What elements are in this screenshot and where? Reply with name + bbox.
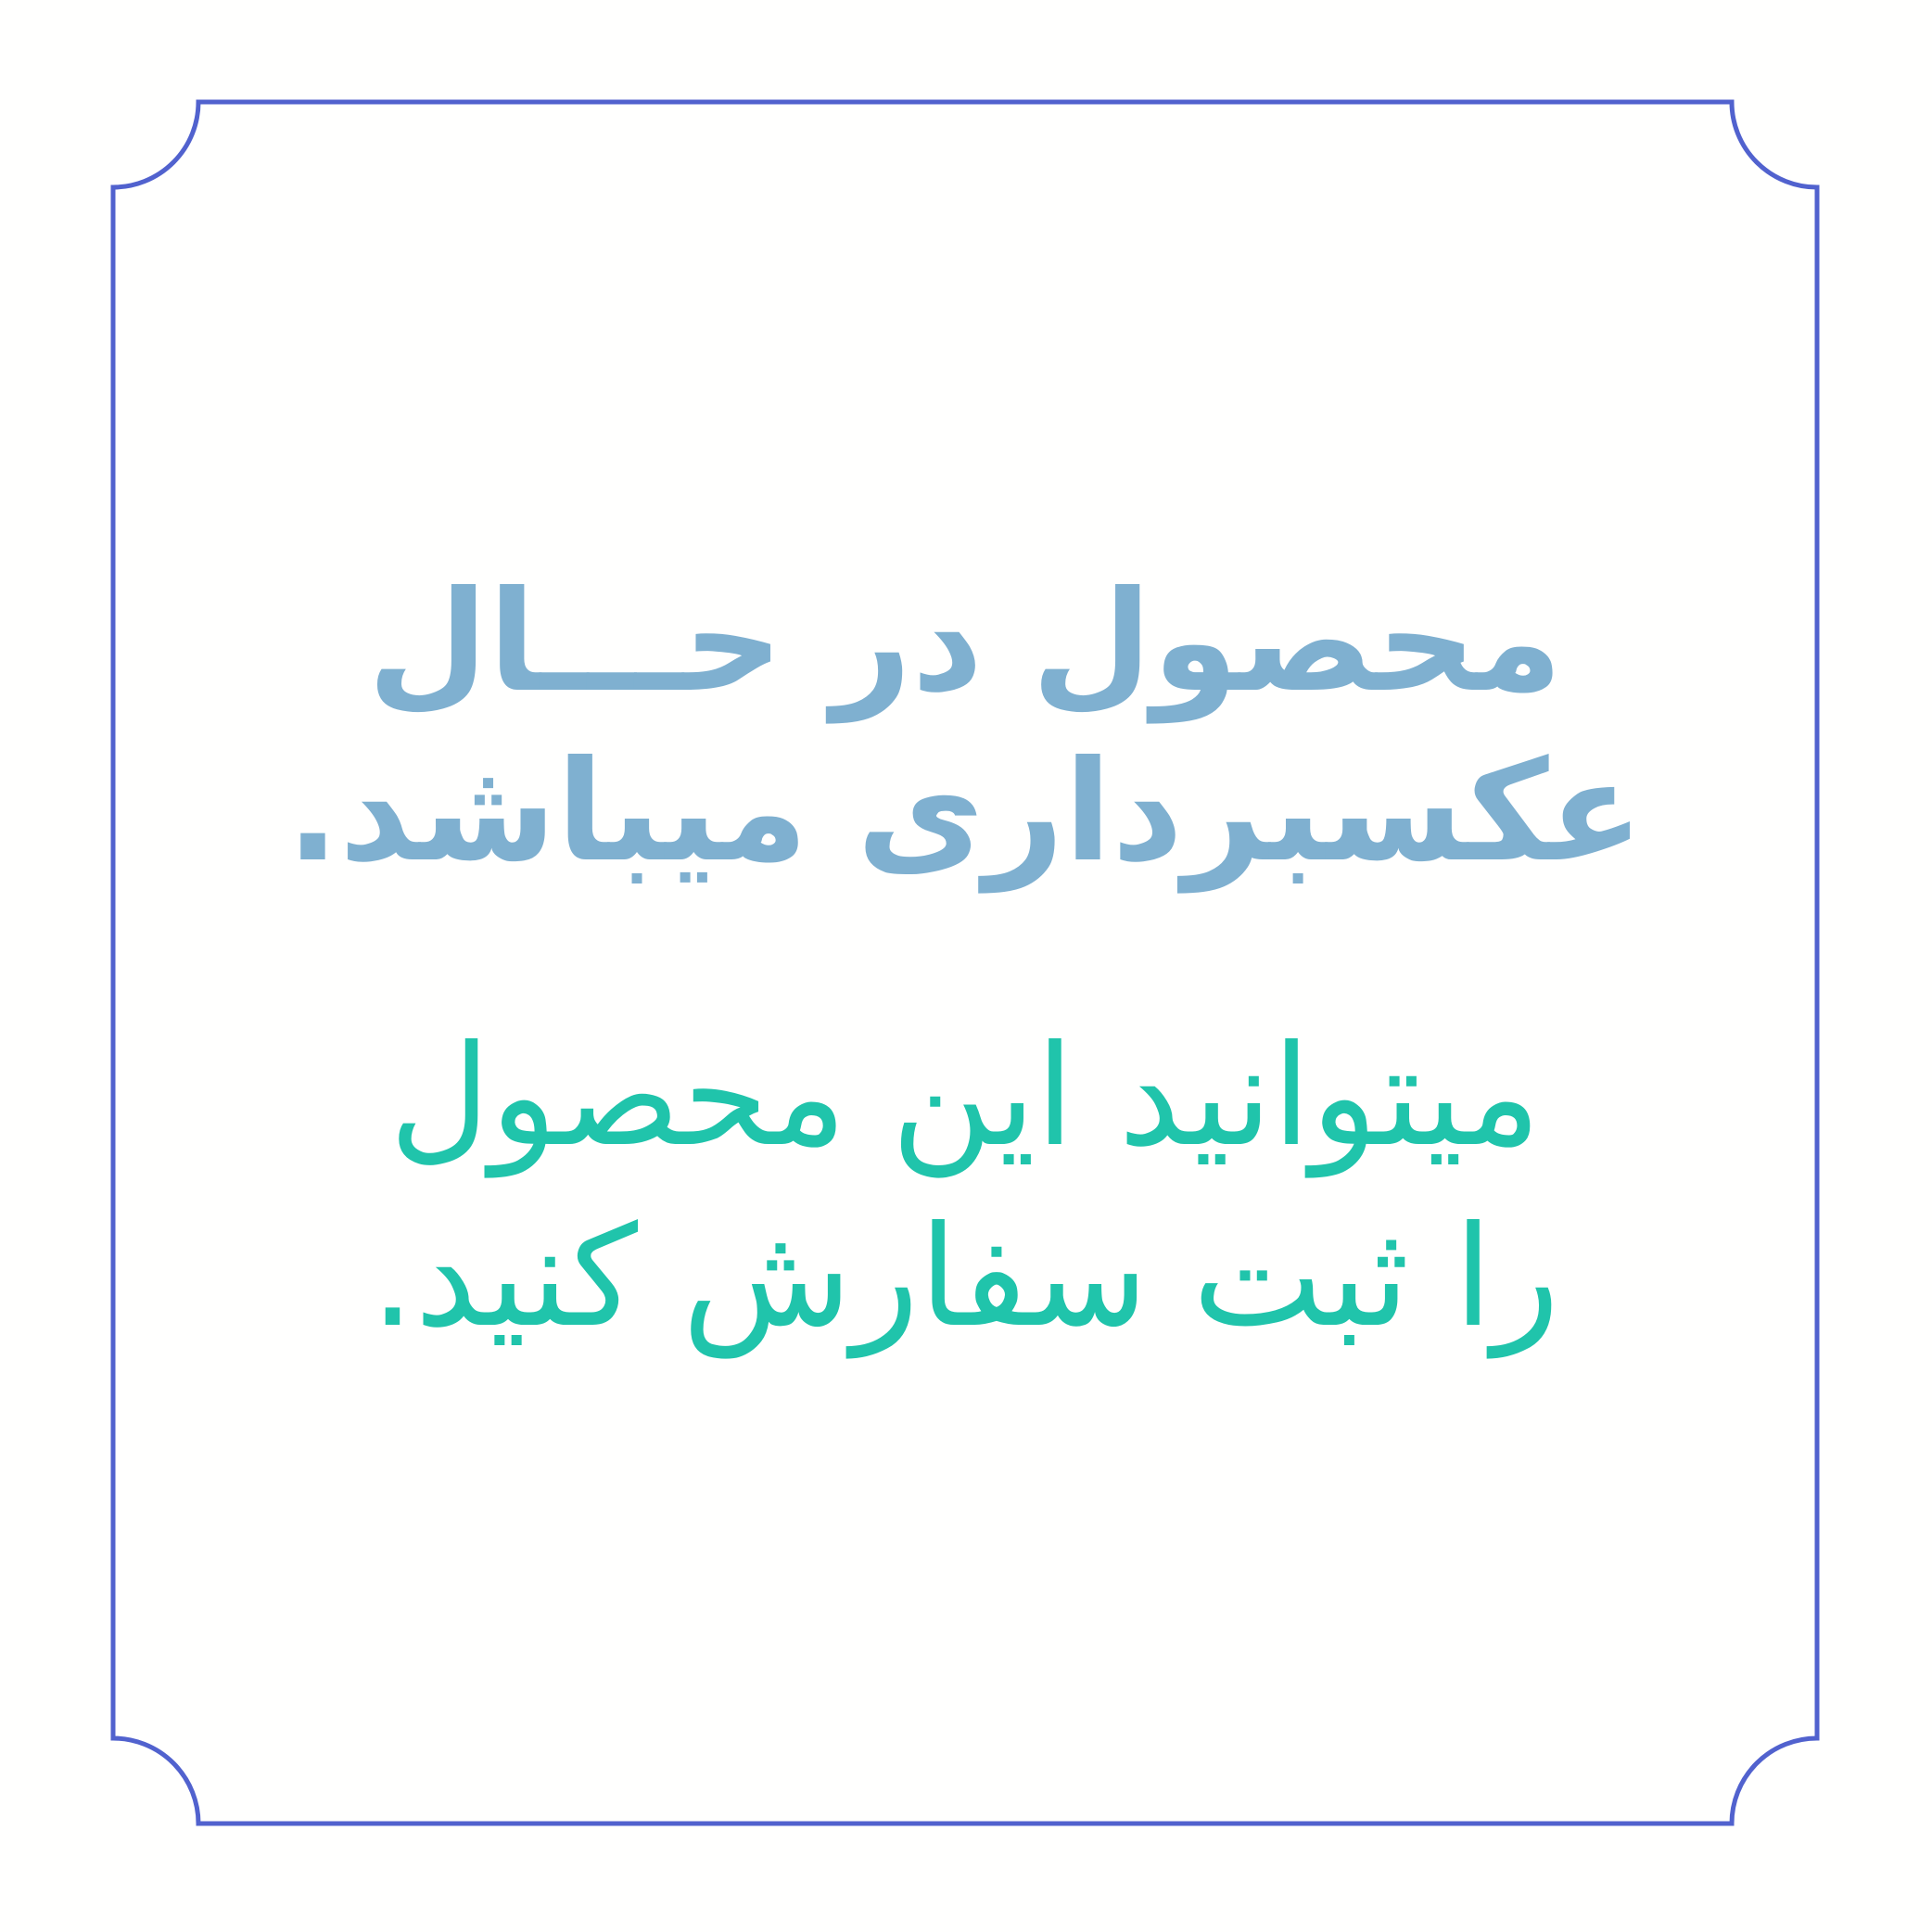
headline-block: محصول در حـــال عکسبرداری میباشد. — [113, 558, 1817, 897]
subline-line-2: را ثبت سفارش کنید. — [113, 1188, 1817, 1368]
headline-line-1: محصول در حـــال — [113, 558, 1817, 728]
subline-block: میتوانید این محصول را ثبت سفارش کنید. — [113, 1007, 1817, 1368]
subline-line-1: میتوانید این محصول — [113, 1007, 1817, 1188]
headline-line-2: عکسبرداری میباشد. — [113, 728, 1817, 897]
text-content-area: محصول در حـــال عکسبرداری میباشد. میتوان… — [113, 102, 1817, 1824]
placeholder-notice-card: محصول در حـــال عکسبرداری میباشد. میتوان… — [0, 0, 1932, 1932]
